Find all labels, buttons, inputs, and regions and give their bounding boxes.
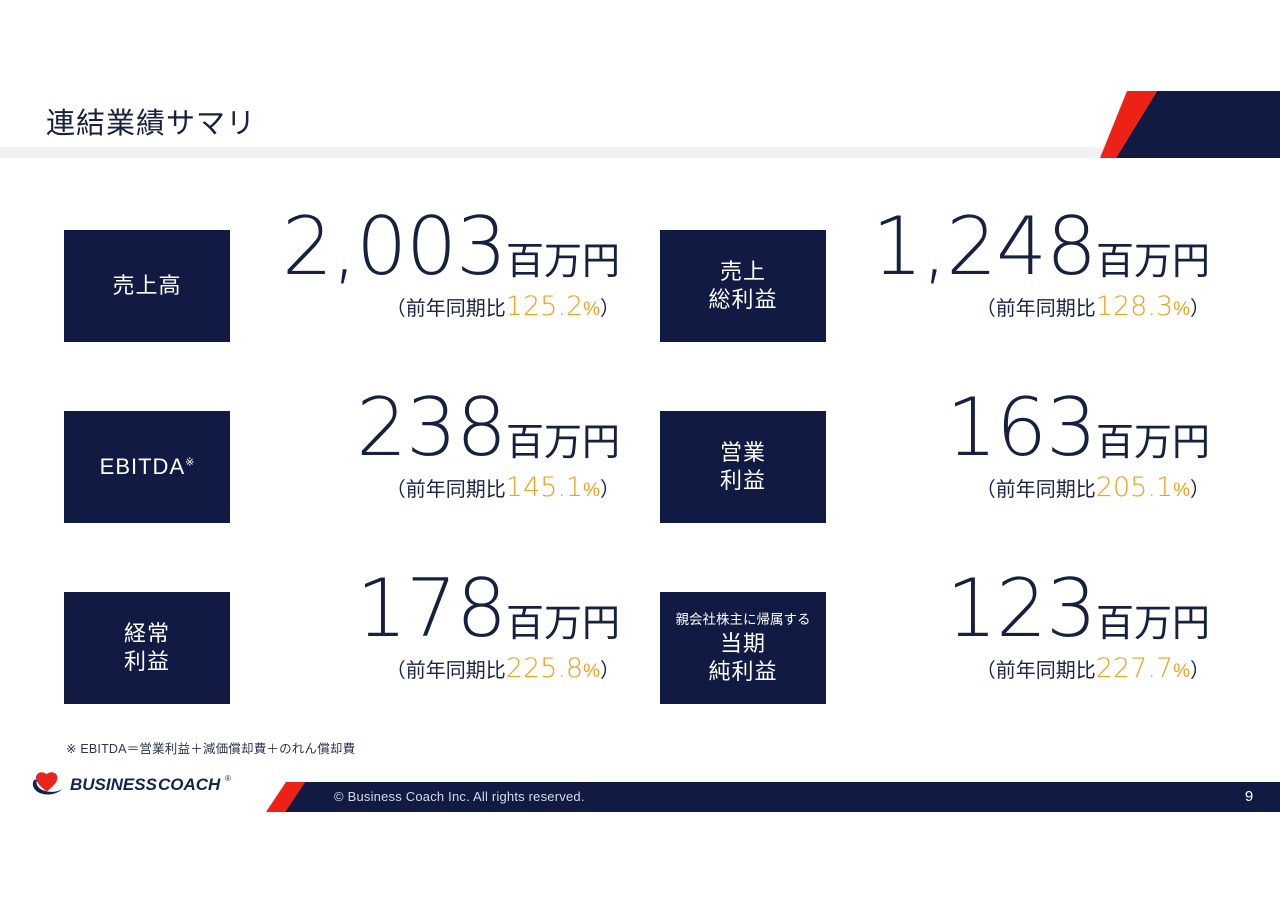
page-number: 9	[1236, 788, 1262, 805]
kpi-value-row: 178百万円	[356, 567, 620, 651]
kpi-card-operating-income: 営業 利益 163百万円 （前年同期比205.1%）	[660, 386, 1210, 546]
kpi-value-row: 163百万円	[946, 386, 1210, 470]
kpi-label-line: 利益	[124, 648, 170, 676]
kpi-value: 123	[946, 562, 1096, 655]
logo-registered-mark: ®	[225, 774, 231, 783]
kpi-yoy-suffix: ）	[1190, 660, 1210, 682]
kpi-card-net-sales: 売上高 2,003百万円 （前年同期比125.2%）	[64, 205, 620, 365]
kpi-label-box: 売上高	[64, 230, 230, 342]
kpi-label-line-wrap: EBITDA※	[100, 453, 195, 481]
kpi-yoy-prefix: （前年同期比	[386, 479, 506, 501]
kpi-yoy-percent: %	[1173, 661, 1190, 682]
footnote-ebitda-definition: ※ EBITDA＝営業利益＋減価償却費＋のれん償却費	[66, 738, 355, 757]
header-divider	[0, 147, 1280, 158]
kpi-figure: 163百万円 （前年同期比205.1%）	[946, 386, 1210, 504]
kpi-yoy-value: 225.8	[506, 653, 583, 684]
kpi-label-line: 利益	[720, 467, 766, 495]
kpi-label-line: 売上高	[112, 272, 181, 300]
kpi-card-net-income: 親会社株主に帰属する 当期 純利益 123百万円 （前年同期比227.7%）	[660, 567, 1210, 727]
kpi-yoy-value: 205.1	[1096, 472, 1173, 503]
kpi-card-ebitda: EBITDA※ 238百万円 （前年同期比145.1%）	[64, 386, 620, 546]
kpi-label-footnote-mark: ※	[185, 457, 194, 469]
kpi-figure: 178百万円 （前年同期比225.8%）	[356, 567, 620, 685]
kpi-unit: 百万円	[1096, 241, 1210, 283]
kpi-yoy-suffix: ）	[1190, 479, 1210, 501]
kpi-value: 1,248	[872, 200, 1096, 293]
kpi-label-box: 売上 総利益	[660, 230, 826, 342]
page-title: 連結業績サマリ	[46, 100, 256, 142]
logo-text-business: BUSINESS	[70, 775, 158, 794]
logo-heart-swoosh-icon	[33, 772, 63, 794]
kpi-yoy-percent: %	[583, 661, 600, 682]
kpi-yoy: （前年同期比225.8%）	[356, 653, 620, 685]
kpi-yoy-percent: %	[1173, 299, 1190, 320]
kpi-yoy: （前年同期比128.3%）	[872, 291, 1210, 323]
kpi-label-note: 親会社株主に帰属する	[676, 610, 811, 630]
footer-copyright: © Business Coach Inc. All rights reserve…	[334, 789, 585, 804]
kpi-row: EBITDA※ 238百万円 （前年同期比145.1%） 営業 利益	[0, 386, 1280, 567]
kpi-yoy: （前年同期比125.2%）	[282, 291, 620, 323]
kpi-value: 178	[356, 562, 506, 655]
kpi-figure: 2,003百万円 （前年同期比125.2%）	[282, 205, 620, 323]
kpi-unit: 百万円	[506, 241, 620, 283]
kpi-figure: 1,248百万円 （前年同期比128.3%）	[872, 205, 1210, 323]
kpi-yoy-value: 128.3	[1096, 291, 1173, 322]
kpi-yoy: （前年同期比227.7%）	[946, 653, 1210, 685]
kpi-figure: 238百万円 （前年同期比145.1%）	[356, 386, 620, 504]
kpi-label-line: 売上	[720, 258, 766, 286]
kpi-yoy-prefix: （前年同期比	[976, 298, 1096, 320]
kpi-label-line: 経常	[124, 620, 170, 648]
kpi-yoy-suffix: ）	[600, 298, 620, 320]
kpi-label-line: 当期	[720, 630, 766, 658]
kpi-unit: 百万円	[1096, 422, 1210, 464]
kpi-value-row: 123百万円	[946, 567, 1210, 651]
kpi-value: 163	[946, 381, 1096, 474]
kpi-unit: 百万円	[506, 422, 620, 464]
kpi-yoy-percent: %	[1173, 480, 1190, 501]
kpi-card-ordinary-income: 経常 利益 178百万円 （前年同期比225.8%）	[64, 567, 620, 727]
kpi-yoy-value: 227.7	[1096, 653, 1173, 684]
kpi-value-row: 2,003百万円	[282, 205, 620, 289]
kpi-yoy-value: 145.1	[506, 472, 583, 503]
kpi-yoy-suffix: ）	[600, 660, 620, 682]
kpi-value: 2,003	[282, 200, 506, 293]
kpi-grid: 売上高 2,003百万円 （前年同期比125.2%） 売上 総利益	[0, 205, 1280, 748]
kpi-unit: 百万円	[1096, 603, 1210, 645]
kpi-figure: 123百万円 （前年同期比227.7%）	[946, 567, 1210, 685]
kpi-label-box: EBITDA※	[64, 411, 230, 523]
kpi-value-row: 1,248百万円	[872, 205, 1210, 289]
kpi-row: 売上高 2,003百万円 （前年同期比125.2%） 売上 総利益	[0, 205, 1280, 386]
slide-root: 連結業績サマリ 売上高 2,003百万円 （前年同期比125.2%）	[0, 0, 1280, 905]
kpi-value: 238	[356, 381, 506, 474]
kpi-value-row: 238百万円	[356, 386, 620, 470]
kpi-yoy-percent: %	[583, 299, 600, 320]
kpi-label-line: 総利益	[708, 286, 777, 314]
kpi-label-line: 純利益	[708, 658, 777, 686]
kpi-yoy-prefix: （前年同期比	[976, 660, 1096, 682]
kpi-card-gross-profit: 売上 総利益 1,248百万円 （前年同期比128.3%）	[660, 205, 1210, 365]
kpi-label-line: EBITDA	[100, 454, 185, 479]
kpi-label-box: 経常 利益	[64, 592, 230, 704]
logo-text-coach: COACH	[158, 775, 221, 794]
company-logo: BUSINESS COACH ®	[32, 770, 247, 804]
kpi-label-box: 親会社株主に帰属する 当期 純利益	[660, 592, 826, 704]
kpi-unit: 百万円	[506, 603, 620, 645]
kpi-yoy: （前年同期比145.1%）	[356, 472, 620, 504]
kpi-row: 経常 利益 178百万円 （前年同期比225.8%） 親会社株主に帰属する 当期	[0, 567, 1280, 748]
kpi-yoy-value: 125.2	[506, 291, 583, 322]
kpi-yoy: （前年同期比205.1%）	[946, 472, 1210, 504]
kpi-label-box: 営業 利益	[660, 411, 826, 523]
kpi-yoy-suffix: ）	[600, 479, 620, 501]
kpi-yoy-prefix: （前年同期比	[386, 660, 506, 682]
kpi-yoy-suffix: ）	[1190, 298, 1210, 320]
kpi-yoy-prefix: （前年同期比	[386, 298, 506, 320]
kpi-label-line: 営業	[720, 439, 766, 467]
header-accent-shape	[1100, 91, 1280, 158]
kpi-yoy-percent: %	[583, 480, 600, 501]
kpi-yoy-prefix: （前年同期比	[976, 479, 1096, 501]
